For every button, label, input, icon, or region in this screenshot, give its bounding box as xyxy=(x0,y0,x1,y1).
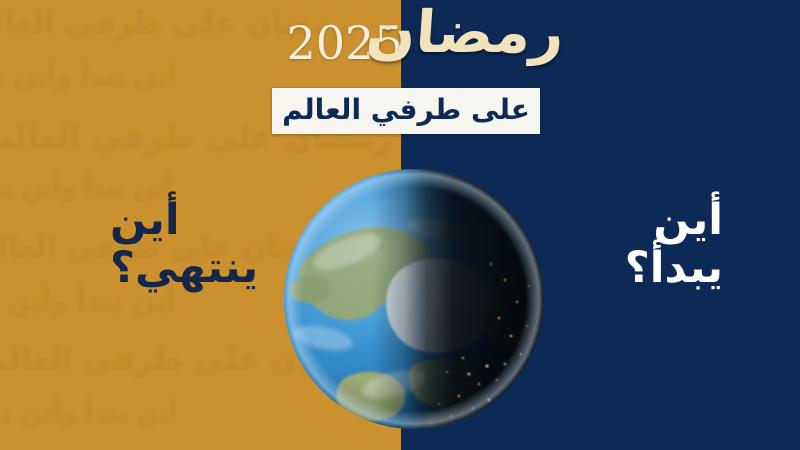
question-left-line2: ينتهي؟ xyxy=(110,244,295,292)
question-right: أين يبدأ؟ xyxy=(548,196,723,292)
watermark-row: أين يبدأ وأين ينتهي xyxy=(0,398,177,427)
headline-banner: على طرفي العالم xyxy=(272,88,540,134)
question-right-line1: أين xyxy=(548,196,723,244)
headline-banner-text: على طرفي العالم xyxy=(282,96,530,127)
watermark-row: أين يبدأ وأين ينتهي xyxy=(0,62,176,92)
question-left: أين ينتهي؟ xyxy=(110,196,295,292)
poster-canvas: رمضان على طرفي العالمأين يبدأ وأين ينتهي… xyxy=(0,0,800,450)
question-right-line2: يبدأ؟ xyxy=(548,244,723,292)
earth-globe xyxy=(283,168,545,430)
ramadan-title: رمضان xyxy=(402,2,566,63)
question-left-line1: أين xyxy=(110,196,295,244)
